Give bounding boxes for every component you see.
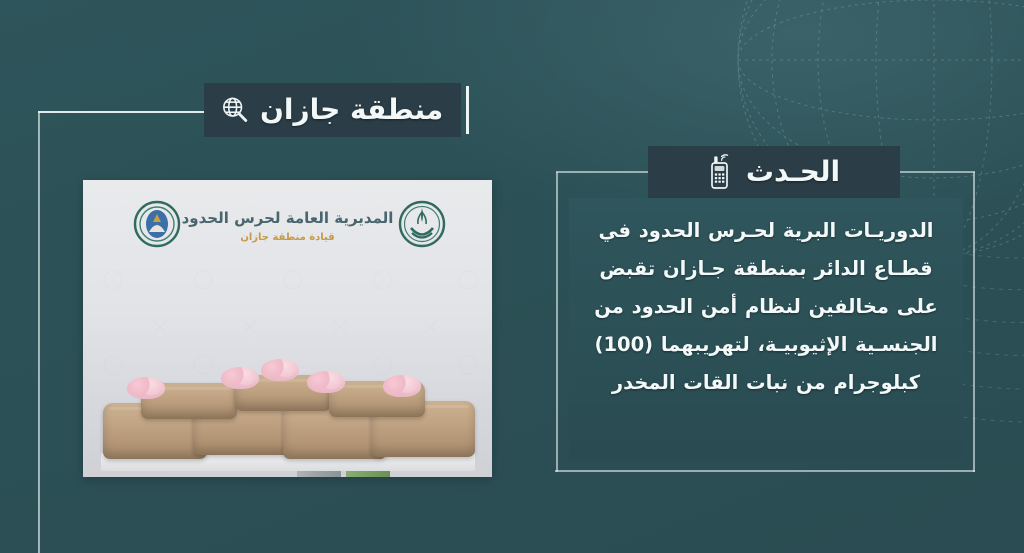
evidence-photo: المديرية العامة لحرس الحدود قيادة منطقة …	[83, 180, 492, 477]
frame-line-vertical-right	[973, 172, 975, 472]
event-body-panel: الدوريـات البرية لحـرس الحدود في قطـاع ا…	[569, 198, 963, 461]
qat-bundle	[221, 367, 259, 389]
frame-line-vertical-left	[38, 112, 40, 553]
event-header-label: الحـدث	[746, 158, 840, 186]
badge-end-tick	[466, 86, 469, 134]
frame-line-top-left	[38, 111, 206, 113]
frame-line-bottom-right	[555, 470, 975, 472]
event-body-text: الدوريـات البرية لحـرس الحدود في قطـاع ا…	[591, 212, 941, 402]
frame-line-top-panel-left	[556, 171, 648, 173]
banner-line-1: المديرية العامة لحرس الحدود	[182, 209, 394, 228]
region-title-text: منطقة جازان	[260, 96, 443, 124]
globe-magnifier-icon	[220, 95, 250, 125]
qat-bundle	[383, 375, 421, 397]
news-graphic-canvas: منطقة جازان	[0, 0, 1024, 553]
walkie-talkie-icon	[708, 154, 734, 190]
event-header-badge: الحـدث	[648, 146, 900, 198]
qat-bundle	[261, 359, 299, 381]
photo-banner-text: المديرية العامة لحرس الحدود قيادة منطقة …	[83, 194, 492, 260]
frame-line-top-right	[900, 171, 975, 173]
banner-line-2: قيادة منطقة جازان	[182, 232, 394, 245]
qat-bundle	[307, 371, 345, 393]
qat-bundle	[127, 377, 165, 399]
region-title-badge: منطقة جازان	[204, 83, 461, 137]
frame-line-vertical-panel-left	[556, 172, 558, 472]
